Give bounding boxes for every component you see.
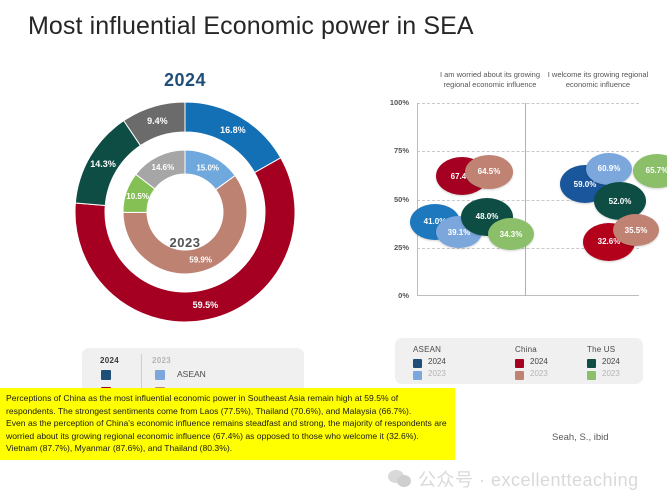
legend-swatch-2023 [587, 371, 596, 380]
donut-label-2023-asean: 15.0% [196, 163, 219, 172]
watermark-text: 公众号 · excellentteaching [418, 466, 639, 492]
bubble-legend-group-title: The US [587, 345, 615, 354]
bubble-legend-group-china: China20242023 [515, 345, 537, 381]
bubble-legend-row-2024[interactable]: 2024 [515, 357, 537, 369]
bubble-value-label: 35.5% [625, 226, 648, 235]
bubble-legend: ASEAN20242023China20242023The US20242023 [395, 338, 643, 384]
bubble-china-2023-welcome[interactable]: 35.5% [613, 214, 659, 246]
y-tick-50: 50% [375, 195, 409, 204]
legend-label: ASEAN [177, 369, 206, 379]
bubble-x-axis-line [417, 295, 639, 296]
legend-swatch-2023 [155, 370, 165, 380]
donut-label-2023-others: 14.6% [152, 163, 175, 172]
note-paragraph-1: Perceptions of China as the most influen… [6, 392, 449, 417]
legend-swatch-2024 [515, 359, 524, 368]
donut-chart-svg: 16.8%59.5%14.3%9.4%15.0%59.9%10.5%14.6% [45, 94, 325, 344]
legend-label-2024: 2024 [428, 357, 446, 366]
bubble-legend-group-title: ASEAN [413, 345, 441, 354]
legend-label-2023: 2023 [428, 369, 446, 378]
bubble-value-label: 52.0% [609, 197, 632, 206]
bubble-value-label: 48.0% [476, 212, 499, 221]
legend-swatch-2024 [413, 359, 422, 368]
wechat-icon [388, 470, 412, 488]
bubble-legend-row-2023[interactable]: 2023 [515, 369, 537, 381]
page-title: Most influential Economic power in SEA [28, 12, 474, 41]
bubble-y-axis-line [417, 103, 418, 296]
bubble-legend-row-2024[interactable]: 2024 [413, 357, 441, 369]
bubble-the-us-2023-welcome[interactable]: 65.7% [633, 154, 667, 188]
bubble-legend-group-title: China [515, 345, 537, 354]
donut-label-2024-the-united-states: 14.3% [90, 159, 116, 169]
donut-legend-head-2023: 2023 [152, 356, 171, 365]
legend-swatch-2023 [413, 371, 422, 380]
donut-label-2024-asean: 16.8% [220, 125, 246, 135]
legend-label-2024: 2024 [530, 357, 548, 366]
bubble-panel-divider [525, 103, 526, 296]
donut-label-2023-the-united-states: 10.5% [126, 192, 149, 201]
source-citation: Seah, S., ibid [552, 432, 609, 443]
legend-label-2023: 2023 [530, 369, 548, 378]
y-tick-75: 75% [375, 146, 409, 155]
donut-legend-item-asean[interactable]: ASEAN [82, 370, 304, 386]
bubble-value-label: 64.5% [478, 167, 501, 176]
gridline-100 [417, 103, 639, 104]
y-tick-100: 100% [375, 98, 409, 107]
bubble-legend-row-2023[interactable]: 2023 [587, 369, 615, 381]
bubble-column-header-welcome: I welcome its growing regional economic … [538, 70, 658, 90]
legend-swatch-2023 [515, 371, 524, 380]
note-paragraph-2: Even as the perception of China's econom… [6, 417, 449, 455]
bubble-asean-2023-welcome[interactable]: 60.9% [586, 153, 632, 185]
bubble-value-label: 65.7% [646, 166, 667, 175]
donut-label-2024-others: 9.4% [147, 116, 168, 126]
bubble-value-label: 34.3% [500, 230, 523, 239]
bubble-legend-group-the-us: The US20242023 [587, 345, 615, 381]
donut-label-2023-china: 59.9% [189, 256, 212, 265]
highlighted-note: Perceptions of China as the most influen… [0, 388, 455, 460]
bubble-legend-group-asean: ASEAN20242023 [413, 345, 441, 381]
bubble-column-header-worried: I am worried about its growing regional … [430, 70, 550, 90]
donut-outer-year-label: 2024 [20, 70, 350, 91]
legend-swatch-2024 [101, 370, 111, 380]
bubble-legend-row-2024[interactable]: 2024 [587, 357, 615, 369]
bubble-the-us-2023-worried[interactable]: 34.3% [488, 218, 534, 250]
legend-swatch-2024 [587, 359, 596, 368]
bubble-legend-row-2023[interactable]: 2023 [413, 369, 441, 381]
donut-inner-year-label: 2023 [20, 235, 350, 250]
donut-chart-panel: 2024 16.8%59.5%14.3%9.4%15.0%59.9%10.5%1… [20, 60, 350, 385]
bubble-value-label: 60.9% [598, 164, 621, 173]
legend-label-2023: 2023 [602, 369, 620, 378]
y-tick-0: 0% [375, 291, 409, 300]
legend-label-2024: 2024 [602, 357, 620, 366]
donut-label-2024-china: 59.5% [193, 300, 219, 310]
y-tick-25: 25% [375, 243, 409, 252]
watermark: 公众号 · excellentteaching [388, 466, 639, 492]
bubble-china-2023-worried[interactable]: 64.5% [465, 155, 513, 189]
donut-legend-head-2024: 2024 [100, 356, 119, 365]
